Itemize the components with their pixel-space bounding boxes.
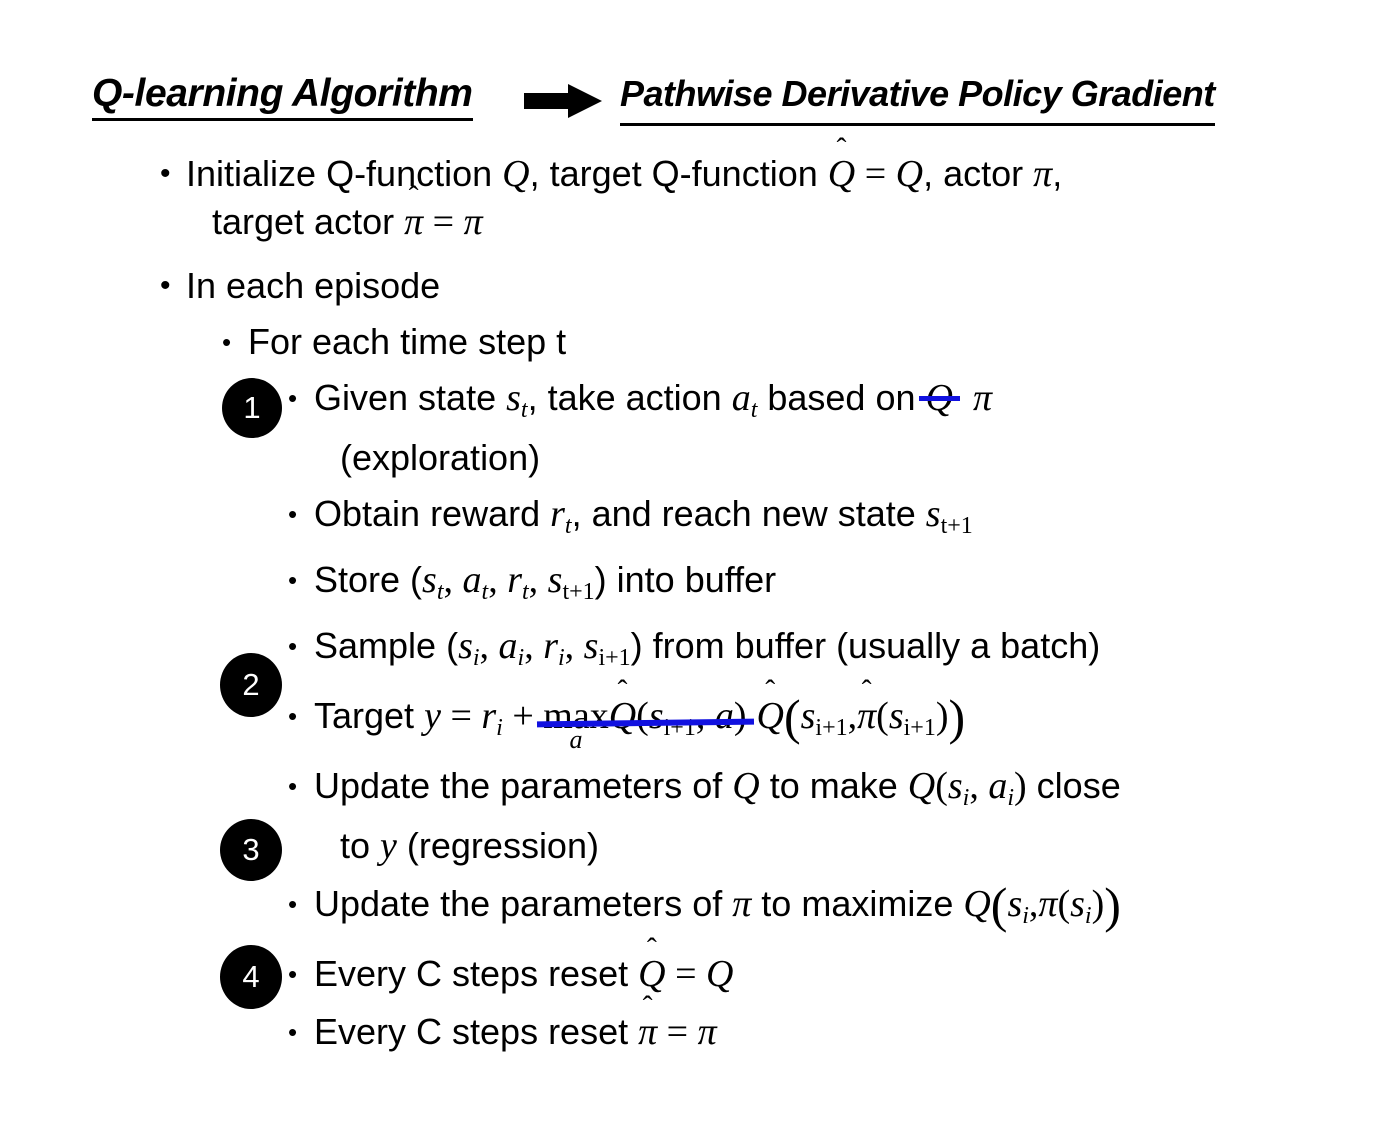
q-symbol-2: Q <box>908 765 935 807</box>
sample-reward-sub: i <box>558 645 565 671</box>
state-subscript: t <box>521 397 528 423</box>
update-q-line2-b: (regression) <box>397 825 599 866</box>
store-action: a <box>463 559 482 601</box>
next-state-symbol: s <box>926 493 941 535</box>
pi-hat-symbol: ̂π <box>638 1008 657 1056</box>
q-hat-symbol: ̂Q <box>828 150 855 198</box>
comma: , <box>848 695 858 737</box>
comma-1: , <box>480 625 499 667</box>
paren-open: ( <box>935 765 948 807</box>
bullet-marker: • <box>160 150 186 198</box>
comma-2: , <box>524 625 543 667</box>
bullet-in-each-episode: •In each episode <box>160 262 1386 310</box>
paren-close: ) <box>734 695 747 737</box>
bullet-given-state: • Given state st, take action at based o… <box>288 374 1386 482</box>
store-state: s <box>422 559 437 601</box>
comma: , <box>969 765 988 807</box>
sample-action: a <box>499 625 518 667</box>
equals-sign: = <box>441 695 481 737</box>
update-q-text-a: Update the parameters of <box>314 765 732 806</box>
bullet-marker: • <box>288 880 314 928</box>
pi-hat-symbol: ̂π <box>857 692 876 740</box>
comma-2: , <box>488 559 507 601</box>
struck-max-q-term: maxâQ(si+1, a) <box>543 692 746 752</box>
bullet-marker: • <box>288 374 314 422</box>
step1-text-c: based on <box>757 377 925 418</box>
bullet-marker: • <box>288 556 314 604</box>
reward-i-sub: i <box>496 715 503 741</box>
q-symbol-2: Q <box>896 153 923 195</box>
equals-sign: = <box>855 153 895 195</box>
step1-text-a: Given state <box>314 377 506 418</box>
equals-sign: = <box>666 953 706 995</box>
bullet-target-y: • Target y = ri + maxâQ(si+1, a) ̂Q(si+… <box>288 692 1386 752</box>
action-i-sub: i <box>1007 785 1014 811</box>
step-badge-3: 3 <box>220 819 282 881</box>
bullet-marker: • <box>288 950 314 998</box>
bullet-obtain-reward: • Obtain reward rt, and reach new state … <box>288 490 1386 550</box>
new-q-hat-symbol: ̂Q <box>757 692 784 740</box>
update-pi-text-b: to maximize <box>751 883 963 924</box>
struck-action: a <box>715 695 734 737</box>
paren-open-inner: ( <box>876 695 889 737</box>
sample-state-sub: i <box>473 645 480 671</box>
paren-close: ) <box>1014 765 1027 807</box>
bullet-store-buffer: • Store (st, at, rt, st+1) into buffer <box>288 556 1386 616</box>
initialize-text-a: Initialize Q-function <box>186 153 502 194</box>
bullet-marker: • <box>222 318 248 366</box>
title-left-q-learning: Q-learning Algorithm <box>92 72 473 121</box>
initialize-text-b: , target Q-function <box>530 153 828 194</box>
pi-symbol-2: π <box>464 201 483 243</box>
q-hat-symbol: ̂Q <box>638 950 665 998</box>
timestep-text: For each time step t <box>248 318 566 366</box>
q-symbol: Q <box>502 153 529 195</box>
bullet-update-q-params: • Update the parameters of Q to make Q(s… <box>288 762 1386 870</box>
slide-body: • Initialize Q-function Q, target Q-func… <box>0 150 1386 1056</box>
bullet-marker: • <box>160 262 186 310</box>
new-state-2: s <box>889 695 904 737</box>
big-paren-close: ) <box>1104 877 1121 933</box>
state-i-2: s <box>1070 883 1085 925</box>
bullet-update-pi-params: • Update the parameters of π to maximize… <box>288 880 1386 940</box>
struck-q-symbol: Q <box>926 374 953 422</box>
plus-sign: + <box>503 695 543 737</box>
q-symbol: Q <box>732 765 759 807</box>
reward-i-symbol: r <box>481 695 496 737</box>
big-paren-open: ( <box>784 689 801 745</box>
initialize-text-d: , <box>1052 153 1062 194</box>
paren-open-inner: ( <box>1057 883 1070 925</box>
comma-1: , <box>444 559 463 601</box>
bullet-sample-buffer: • Sample (si, ai, ri, si+1) from buffer … <box>288 622 1386 682</box>
initialize-text-c: , actor <box>923 153 1033 194</box>
bullet-marker: • <box>288 490 314 538</box>
equals-sign: = <box>657 1011 697 1053</box>
y-symbol: y <box>424 695 441 737</box>
pi-hat-symbol: ̂π <box>404 198 423 246</box>
comma: , <box>1029 883 1039 925</box>
next-state-subscript: t+1 <box>941 513 973 539</box>
step-badge-2: 2 <box>220 653 282 717</box>
blue-strikethrough <box>919 396 960 401</box>
new-state-sub: i+1 <box>815 715 847 741</box>
state-symbol: s <box>506 377 521 419</box>
reward-text-b: , and reach new state <box>572 493 926 534</box>
bullet-reset-pi-hat: • Every C steps reset ̂π = π <box>288 1008 1386 1056</box>
state-i: s <box>1007 883 1022 925</box>
store-text-b: ) into buffer <box>595 559 776 600</box>
pi-symbol: π <box>698 1011 717 1053</box>
comma: , <box>696 695 715 737</box>
new-state: s <box>801 695 816 737</box>
episode-text: In each episode <box>186 262 440 310</box>
store-reward-sub: t <box>522 579 529 605</box>
pi-symbol: π <box>732 883 751 925</box>
store-next-state: s <box>548 559 563 601</box>
action-i: a <box>988 765 1007 807</box>
max-operator: maxa <box>543 697 608 735</box>
update-q-line2-a: to <box>340 825 380 866</box>
state-i: s <box>948 765 963 807</box>
reset-q-text-a: Every C steps reset <box>314 953 638 994</box>
bullet-marker: • <box>288 692 314 740</box>
step1-exploration-text: (exploration) <box>340 434 992 482</box>
step-badge-1: 1 <box>222 378 282 438</box>
update-pi-text-a: Update the parameters of <box>314 883 732 924</box>
state-i-2-sub: i <box>1085 903 1092 929</box>
max-subscript-a: a <box>570 727 583 753</box>
q-hat-symbol: ̂Q <box>609 692 636 740</box>
sample-text-a: Sample ( <box>314 625 458 666</box>
sample-text-b: ) from buffer (usually a batch) <box>631 625 1101 666</box>
bullet-for-each-time-step: •For each time step t <box>222 318 1386 366</box>
pi-symbol-2: π <box>1038 883 1057 925</box>
step1-text-b: , take action <box>528 377 732 418</box>
reset-pi-text-a: Every C steps reset <box>314 1011 638 1052</box>
paren-close-inner: ) <box>1092 883 1105 925</box>
state-i-sub: i <box>1022 903 1029 929</box>
reward-subscript: t <box>565 513 572 539</box>
bullet-reset-q-hat: • Every C steps reset ̂Q = Q <box>288 950 1386 998</box>
paren-open: ( <box>636 695 649 737</box>
big-paren-close: ) <box>948 689 965 745</box>
bullet-marker: • <box>288 1008 314 1056</box>
q-symbol: Q <box>706 953 733 995</box>
store-state-sub: t <box>437 579 444 605</box>
pi-replacement-symbol: π <box>973 377 992 419</box>
bullet-initialize: • Initialize Q-function Q, target Q-func… <box>160 150 1386 246</box>
sample-reward: r <box>543 625 558 667</box>
bullet-marker: • <box>288 762 314 810</box>
comma-3: , <box>529 559 548 601</box>
sample-next-state-sub: i+1 <box>598 645 630 671</box>
store-text-a: Store ( <box>314 559 422 600</box>
update-q-text-b: to make <box>760 765 908 806</box>
equals-sign-2: = <box>423 201 463 243</box>
big-paren-open: ( <box>991 877 1008 933</box>
bullet-marker: • <box>288 622 314 670</box>
new-state-2-sub: i+1 <box>904 715 936 741</box>
right-arrow-icon <box>524 84 602 118</box>
reward-symbol: r <box>550 493 565 535</box>
step-badge-4: 4 <box>220 945 282 1009</box>
action-symbol: a <box>732 377 751 419</box>
paren-close-inner: ) <box>936 695 949 737</box>
q-symbol: Q <box>963 883 990 925</box>
store-reward: r <box>507 559 522 601</box>
title-right-pathwise-pg: Pathwise Derivative Policy Gradient <box>620 73 1215 126</box>
y-symbol: y <box>380 825 397 867</box>
sample-next-state: s <box>584 625 599 667</box>
store-next-state-sub: t+1 <box>562 579 594 605</box>
comma-3: , <box>565 625 584 667</box>
sample-state: s <box>458 625 473 667</box>
pi-symbol: π <box>1033 153 1052 195</box>
struck-state: s <box>649 695 664 737</box>
update-q-text-c: close <box>1027 765 1121 806</box>
initialize-line2-a: target actor <box>212 201 404 242</box>
reward-text-a: Obtain reward <box>314 493 550 534</box>
slide-title-bar: Q-learning Algorithm Pathwise Derivative… <box>92 72 1302 132</box>
target-text-a: Target <box>314 695 424 736</box>
